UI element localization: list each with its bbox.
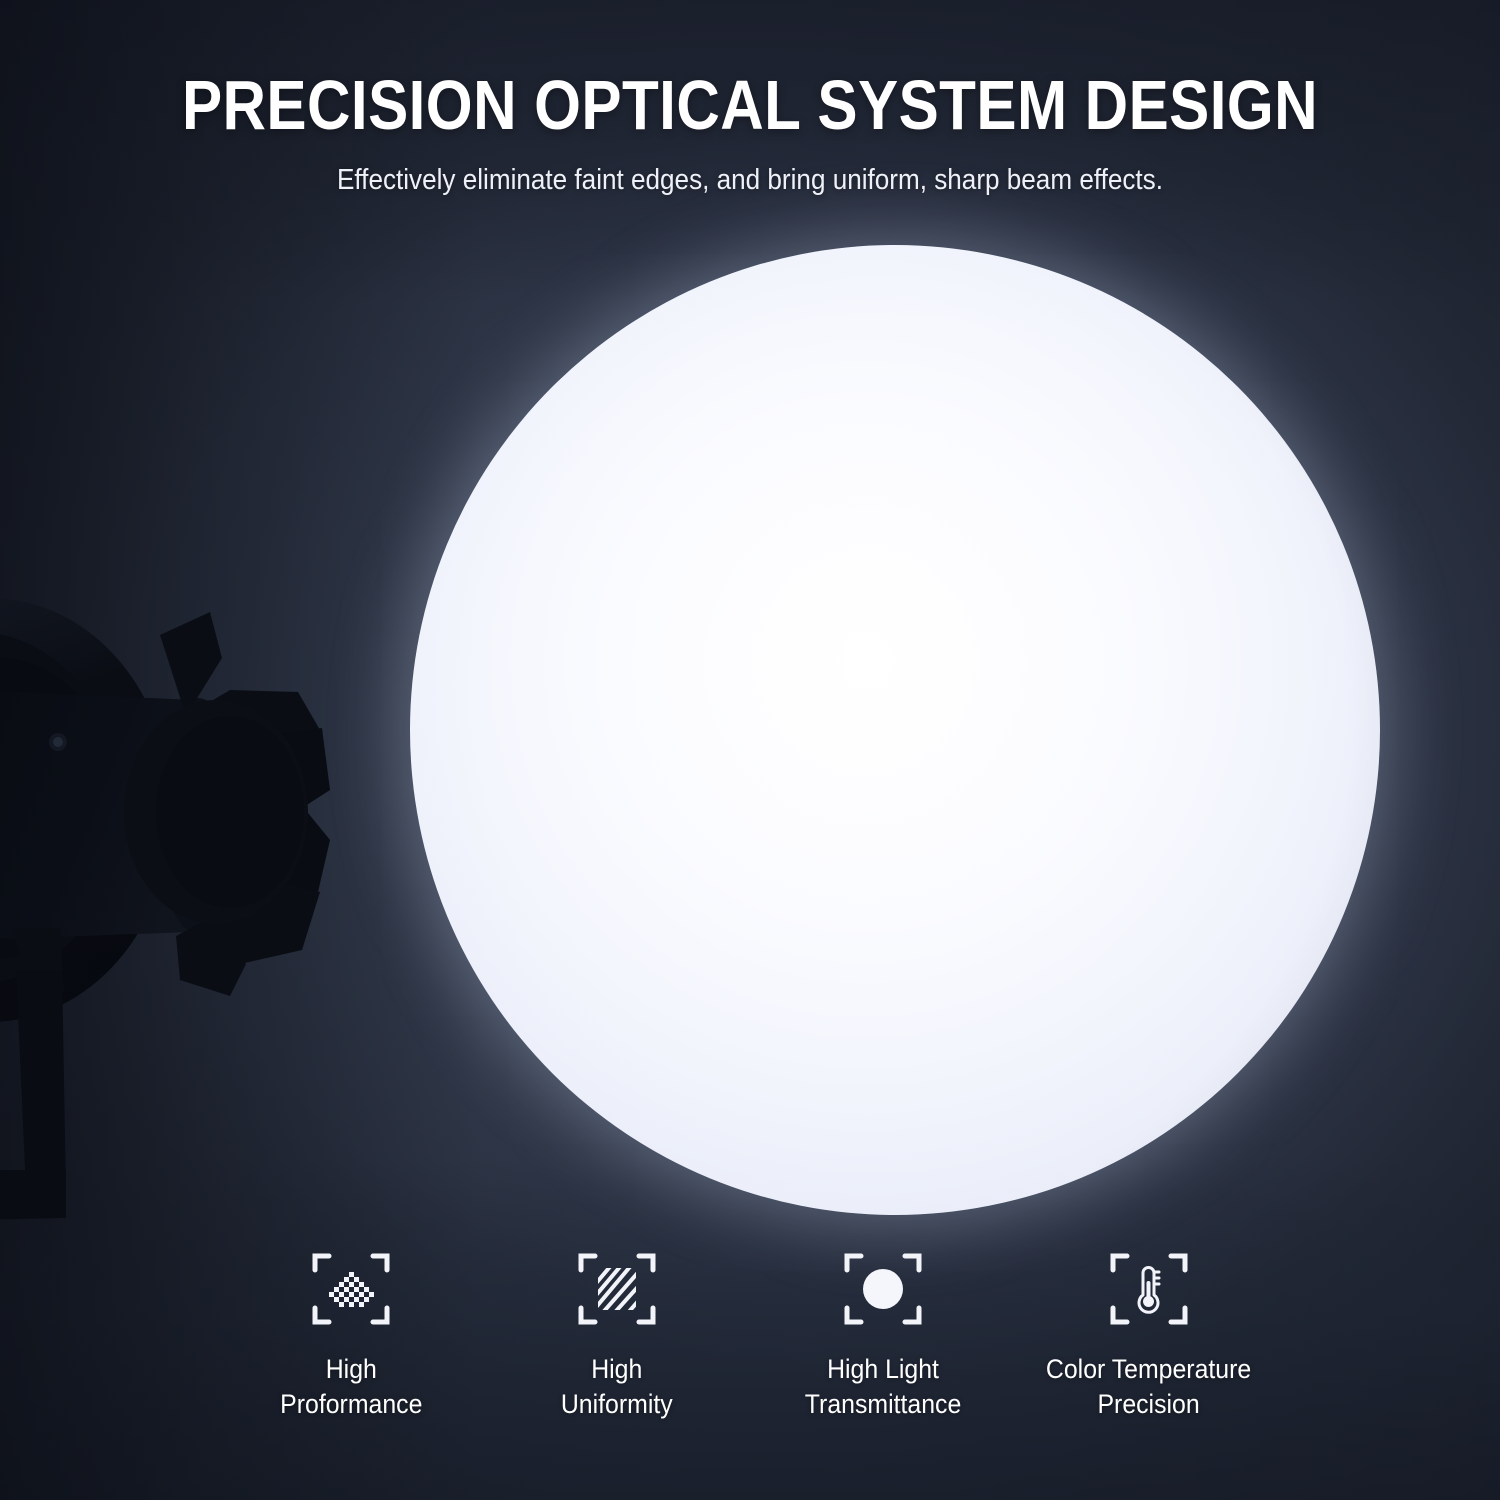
feature-label: Color Temperature Precision [1046,1352,1251,1422]
promo-banner: PRECISION OPTICAL SYSTEM DESIGN Effectiv… [0,0,1500,1500]
feature-label: High Proformance [280,1352,422,1422]
feature-label: High Light Transmittance [805,1352,961,1422]
feature-item-high-light-transmittance: High Light Transmittance [750,1248,1016,1422]
page-subtitle: Effectively eliminate faint edges, and b… [75,166,1425,195]
thermometer-icon [1108,1248,1190,1330]
page-title: PRECISION OPTICAL SYSTEM DESIGN [105,70,1395,140]
diagonal-hatch-icon [576,1248,658,1330]
feature-item-high-proformance: High Proformance [218,1248,484,1422]
feature-label: High Uniformity [561,1352,673,1422]
feature-list: High Proformance [218,1248,1282,1422]
filled-circle-icon [842,1248,924,1330]
header: PRECISION OPTICAL SYSTEM DESIGN Effectiv… [0,70,1500,195]
feature-item-high-uniformity: High Uniformity [484,1248,750,1422]
gradient-dither-triangle-icon [310,1248,392,1330]
feature-item-color-temperature-precision: Color Temperature Precision [1016,1248,1282,1422]
